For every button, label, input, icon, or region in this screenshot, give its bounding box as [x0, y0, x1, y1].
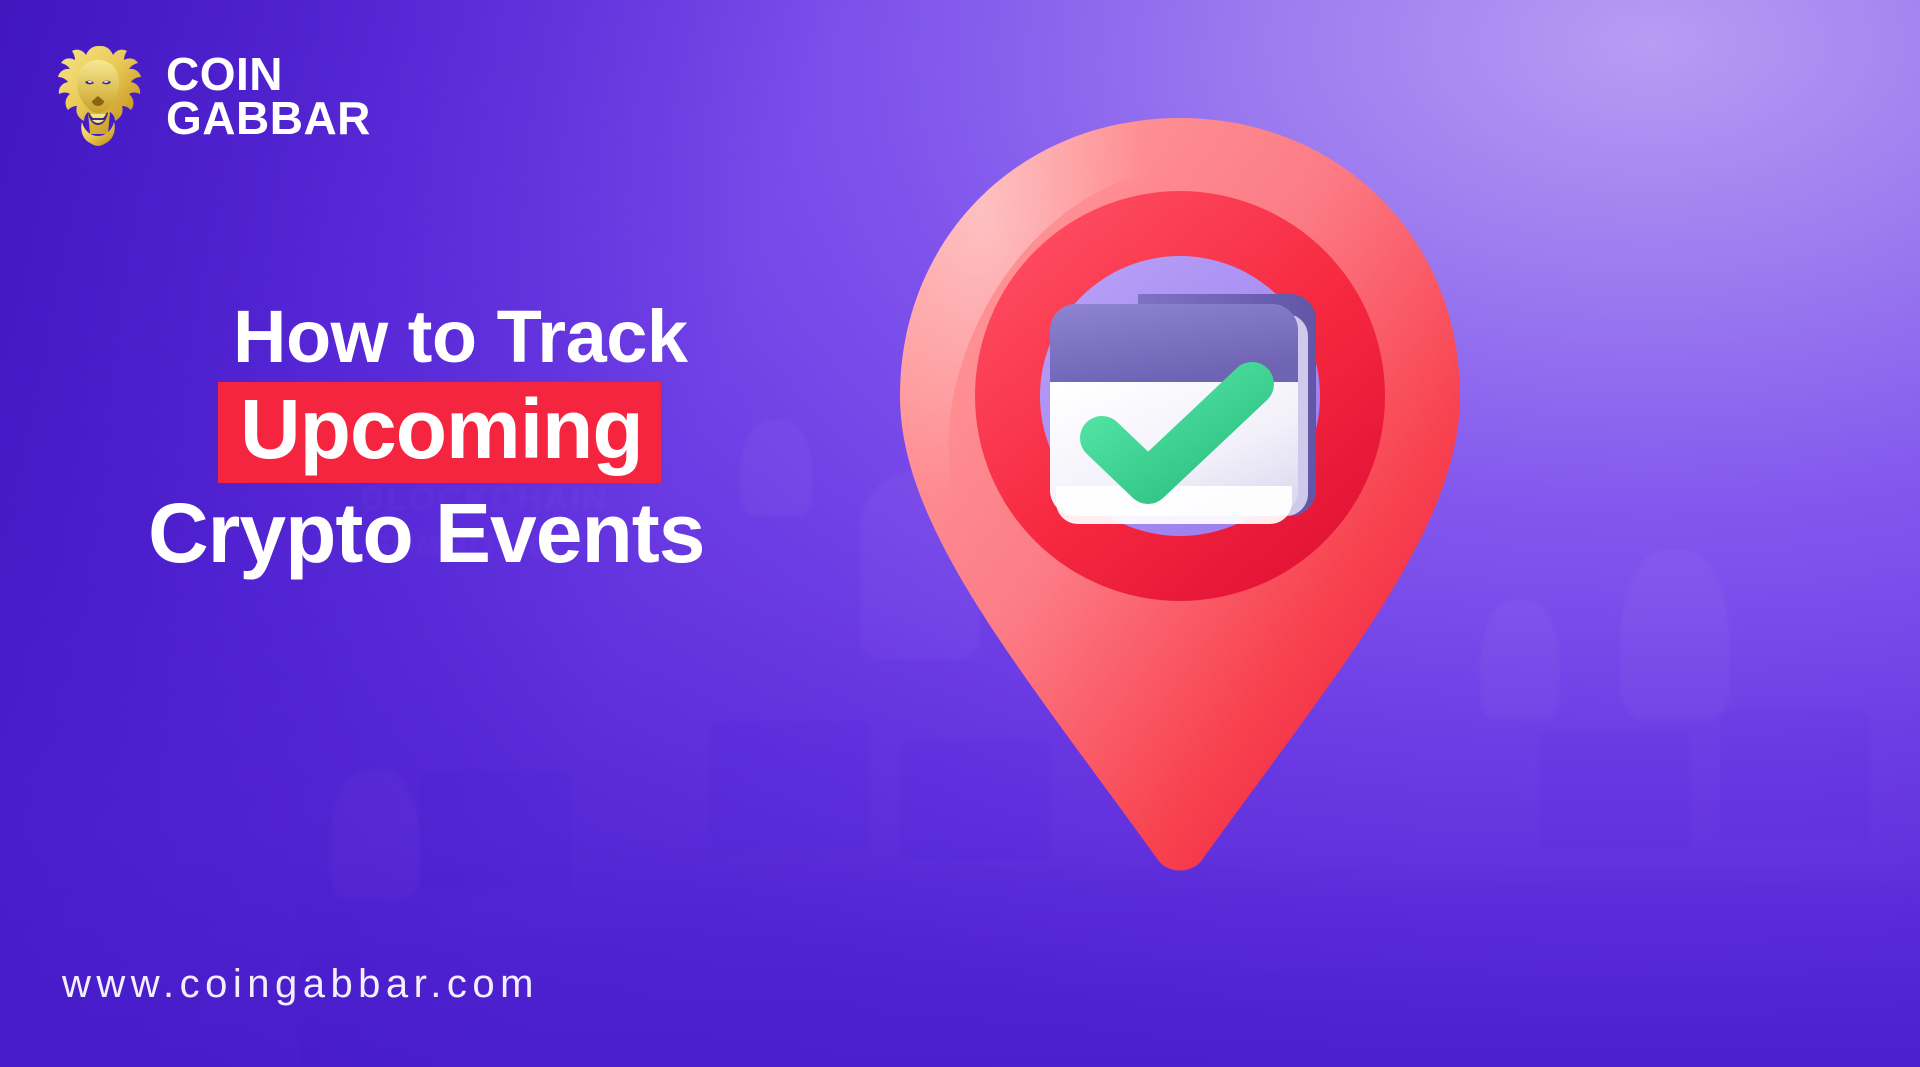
brand-wordmark: COIN GABBAR — [166, 52, 371, 140]
map-pin-illustration — [880, 108, 1480, 888]
brand-logo[interactable]: COIN GABBAR — [52, 44, 371, 148]
brand-name-line1: COIN — [166, 52, 371, 96]
brand-name-line2: GABBAR — [166, 96, 371, 140]
banner-canvas: BLOCKCHAIN SUMMIT 2022 — [0, 0, 1920, 1067]
map-pin-calendar-check-icon — [880, 108, 1480, 888]
lion-head-icon — [52, 44, 144, 148]
calendar-front-sheet — [1056, 486, 1292, 524]
website-url[interactable]: www.coingabbar.com — [62, 962, 539, 1007]
calendar-icon — [1050, 294, 1316, 524]
headline-line-2-highlight: Upcoming — [218, 382, 661, 483]
